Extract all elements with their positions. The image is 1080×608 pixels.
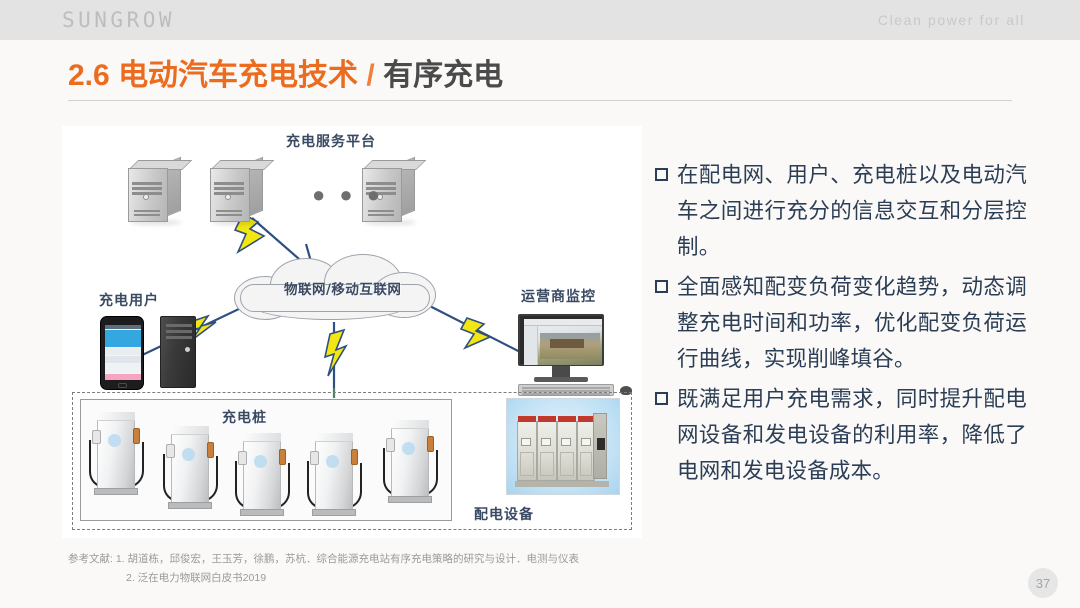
charging-pile [239, 433, 287, 519]
smartphone-icon [100, 316, 144, 390]
label-charging-pile: 充电桩 [222, 407, 267, 427]
desktop-tower-icon [160, 316, 196, 388]
bullet-text: 既满足用户充电需求，同时提升配电网设备和发电设备的利用率，降低了电网和发电设备成… [677, 382, 1027, 490]
ellipsis-dots: ● ● ● [312, 182, 384, 208]
bullet-item: 全面感知配变负荷变化趋势，动态调整充电时间和功率，优化配变负荷运行曲线，实现削峰… [655, 270, 1027, 378]
square-bullet-icon [655, 392, 668, 405]
title-separator: / [366, 59, 374, 92]
bullet-text: 全面感知配变负荷变化趋势，动态调整充电时间和功率，优化配变负荷运行曲线，实现削峰… [677, 270, 1027, 378]
header-tagline: Clean power for all [878, 12, 1025, 28]
server-icon [128, 160, 182, 222]
bullet-item: 既满足用户充电需求，同时提升配电网设备和发电设备的利用率，降低了电网和发电设备成… [655, 382, 1027, 490]
label-platform: 充电服务平台 [286, 131, 376, 151]
title-main: 电动汽车充电技术 [118, 59, 358, 92]
bullet-list: 在配电网、用户、充电桩以及电动汽车之间进行充分的信息交互和分层控制。 全面感知配… [655, 158, 1027, 494]
footnote-line-1: 参考文献: 1. 胡道栋，邱俊宏，王玉芳，徐鹏，苏杭．综合能源充电站有序充电策略… [68, 550, 688, 569]
label-distribution: 配电设备 [474, 504, 534, 524]
title-number: 2.6 [68, 59, 110, 92]
charging-pile [93, 412, 141, 498]
page-number-badge: 37 [1028, 568, 1058, 598]
page-title: 2.6 电动汽车充电技术 / 有序充电 [68, 50, 503, 94]
slide: SUNGROW Clean power for all 2.6 电动汽车充电技术… [0, 0, 1080, 608]
charging-pile [387, 420, 435, 506]
charging-pile [167, 426, 215, 512]
server-icon [210, 160, 264, 222]
square-bullet-icon [655, 280, 668, 293]
sungrow-logo: SUNGROW [62, 8, 175, 32]
footnotes: 参考文献: 1. 胡道栋，邱俊宏，王玉芳，徐鹏，苏杭．综合能源充电站有序充电策略… [68, 550, 688, 588]
title-divider [68, 100, 1012, 101]
square-bullet-icon [655, 168, 668, 181]
label-cloud: 物联网/移动互联网 [284, 278, 401, 298]
bullet-item: 在配电网、用户、充电桩以及电动汽车之间进行充分的信息交互和分层控制。 [655, 158, 1027, 266]
distribution-equipment-image [506, 398, 620, 495]
title-subtitle: 有序充电 [383, 59, 503, 92]
footnote-line-2: 2. 泛在电力物联网白皮书2019 [68, 569, 688, 588]
label-user: 充电用户 [99, 290, 159, 310]
charging-pile [311, 433, 359, 519]
architecture-diagram: ● ● ● 充电服务平台 物联网/移动互联网 充电用户 [62, 126, 642, 538]
bullet-text: 在配电网、用户、充电桩以及电动汽车之间进行充分的信息交互和分层控制。 [677, 158, 1027, 266]
label-operator: 运营商监控 [521, 286, 596, 306]
